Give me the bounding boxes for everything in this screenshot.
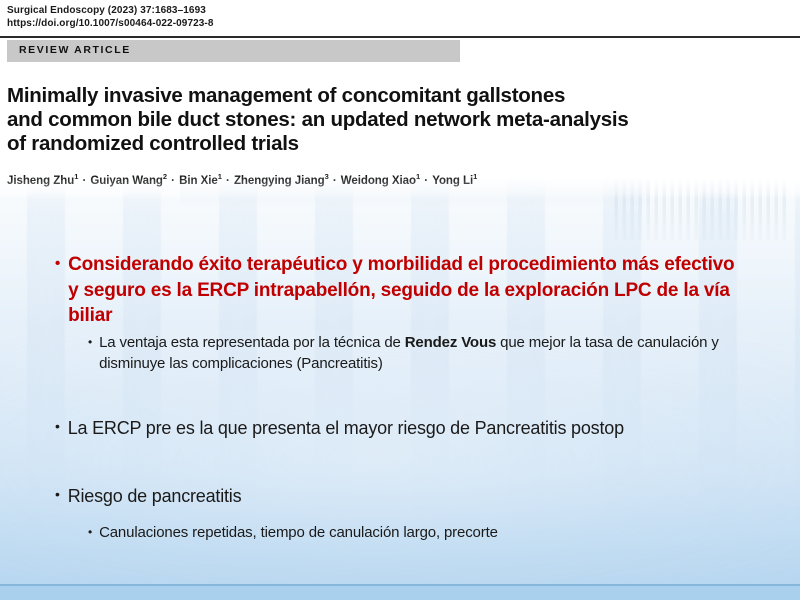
author-name: Zhengying Jiang bbox=[234, 175, 325, 187]
paper-title-line-2: and common bile duct stones: an updated … bbox=[7, 108, 797, 132]
author-name: Bin Xie bbox=[179, 175, 218, 187]
author-name: Yong Li bbox=[432, 175, 473, 187]
bullet-rendez-vous-detail: • La ventaja esta representada por la té… bbox=[88, 332, 748, 374]
author-separator: · bbox=[167, 175, 179, 187]
slide-body: • Considerando éxito terapéutico y morbi… bbox=[0, 236, 800, 566]
rendez-vous-term: Rendez Vous bbox=[405, 334, 496, 351]
bullet-glyph-icon: • bbox=[88, 336, 92, 348]
author-name: Guiyan Wang bbox=[90, 175, 163, 187]
paper-author-list: Jisheng Zhu1 · Guiyan Wang2 · Bin Xie1 ·… bbox=[7, 172, 477, 187]
bullet-pancreatitis-risk-factors-text: Canulaciones repetidas, tiempo de canula… bbox=[99, 522, 748, 543]
bullet-pancreatitis-risk-heading: • Riesgo de pancreatitis bbox=[55, 484, 755, 508]
bullet-glyph-icon: • bbox=[55, 487, 60, 501]
author-separator: · bbox=[420, 175, 432, 187]
slide-bottom-accent-band bbox=[0, 584, 800, 600]
bullet-pancreatitis-risk-heading-text: Riesgo de pancreatitis bbox=[68, 484, 755, 508]
journal-doi: https://doi.org/10.1007/s00464-022-09723… bbox=[7, 17, 214, 30]
bullet-conclusion-main: • Considerando éxito terapéutico y morbi… bbox=[55, 252, 745, 329]
bullet-glyph-icon: • bbox=[88, 526, 92, 538]
journal-citation: Surgical Endoscopy (2023) 37:1683–1693 bbox=[7, 5, 206, 16]
rendez-vous-text-before: La ventaja esta representada por la técn… bbox=[99, 334, 405, 351]
author-name: Jisheng Zhu bbox=[7, 175, 74, 187]
bullet-ercp-pre-risk: • La ERCP pre es la que presenta el mayo… bbox=[55, 416, 755, 440]
paper-title: Minimally invasive management of concomi… bbox=[7, 84, 797, 156]
bullet-conclusion-main-text: Considerando éxito terapéutico y morbili… bbox=[68, 252, 745, 329]
bullet-pancreatitis-risk-factors: • Canulaciones repetidas, tiempo de canu… bbox=[88, 522, 748, 543]
article-type-label: REVIEW ARTICLE bbox=[19, 44, 131, 56]
journal-citation-block: Surgical Endoscopy (2023) 37:1683–1693 h… bbox=[7, 4, 214, 30]
author-affiliation-marker: 1 bbox=[473, 172, 477, 181]
author-separator: · bbox=[329, 175, 341, 187]
article-type-band: REVIEW ARTICLE bbox=[7, 40, 460, 62]
bullet-glyph-icon: • bbox=[55, 256, 60, 271]
bullet-ercp-pre-risk-text: La ERCP pre es la que presenta el mayor … bbox=[68, 416, 755, 440]
journal-article-header: Surgical Endoscopy (2023) 37:1683–1693 h… bbox=[0, 0, 800, 200]
presentation-slide: Surgical Endoscopy (2023) 37:1683–1693 h… bbox=[0, 0, 800, 600]
author-name: Weidong Xiao bbox=[341, 175, 416, 187]
header-rule-divider bbox=[0, 36, 800, 38]
bullet-rendez-vous-detail-text: La ventaja esta representada por la técn… bbox=[99, 332, 748, 374]
author-separator: · bbox=[78, 175, 90, 187]
author-separator: · bbox=[222, 175, 234, 187]
bullet-glyph-icon: • bbox=[55, 419, 60, 433]
paper-title-line-3: of randomized controlled trials bbox=[7, 132, 797, 156]
paper-title-line-1: Minimally invasive management of concomi… bbox=[7, 84, 797, 108]
